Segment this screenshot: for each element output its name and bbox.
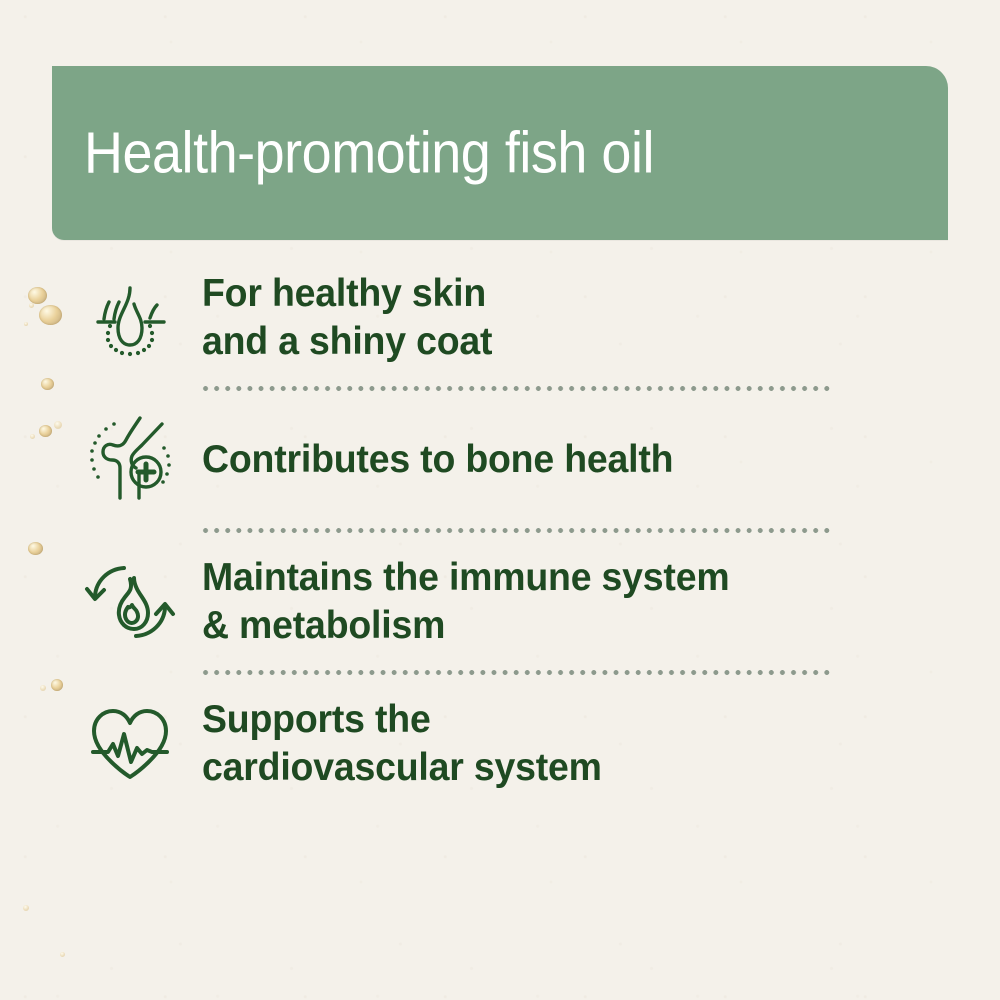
- oil-droplet: [23, 905, 29, 911]
- benefit-item-bone: Contributes to bone health: [0, 400, 1000, 520]
- benefit-line: For healthy skin: [202, 270, 492, 318]
- benefit-item-heart: Supports the cardiovascular system: [0, 684, 1000, 804]
- flame-metabolism-arrows-icon: [80, 559, 180, 645]
- divider-1: [200, 378, 834, 400]
- benefit-line: Contributes to bone health: [202, 436, 673, 484]
- benefit-line: & metabolism: [202, 602, 729, 650]
- benefit-label-immune: Maintains the immune system & metabolism: [202, 554, 729, 649]
- benefit-item-immune: Maintains the immune system & metabolism: [0, 542, 1000, 662]
- heart-ecg-icon: [80, 704, 180, 784]
- benefit-item-skin: For healthy skin and a shiny coat: [0, 258, 1000, 378]
- infographic-page: Health-promoting fish oil: [0, 0, 1000, 1000]
- benefit-line: and a shiny coat: [202, 318, 492, 366]
- benefit-label-skin: For healthy skin and a shiny coat: [202, 270, 492, 365]
- benefit-line: Maintains the immune system: [202, 554, 729, 602]
- benefit-line: Supports the: [202, 696, 602, 744]
- bone-joint-plus-icon: [80, 414, 180, 506]
- page-title: Health-promoting fish oil: [84, 120, 654, 187]
- header-banner: Health-promoting fish oil: [52, 66, 948, 240]
- benefit-label-heart: Supports the cardiovascular system: [202, 696, 602, 791]
- benefit-line: cardiovascular system: [202, 744, 602, 792]
- benefit-label-bone: Contributes to bone health: [202, 436, 673, 484]
- hair-follicle-icon: [80, 278, 180, 358]
- benefits-list: For healthy skin and a shiny coat: [0, 258, 1000, 804]
- oil-droplet: [60, 952, 65, 957]
- divider-3: [200, 662, 834, 684]
- divider-2: [200, 520, 834, 542]
